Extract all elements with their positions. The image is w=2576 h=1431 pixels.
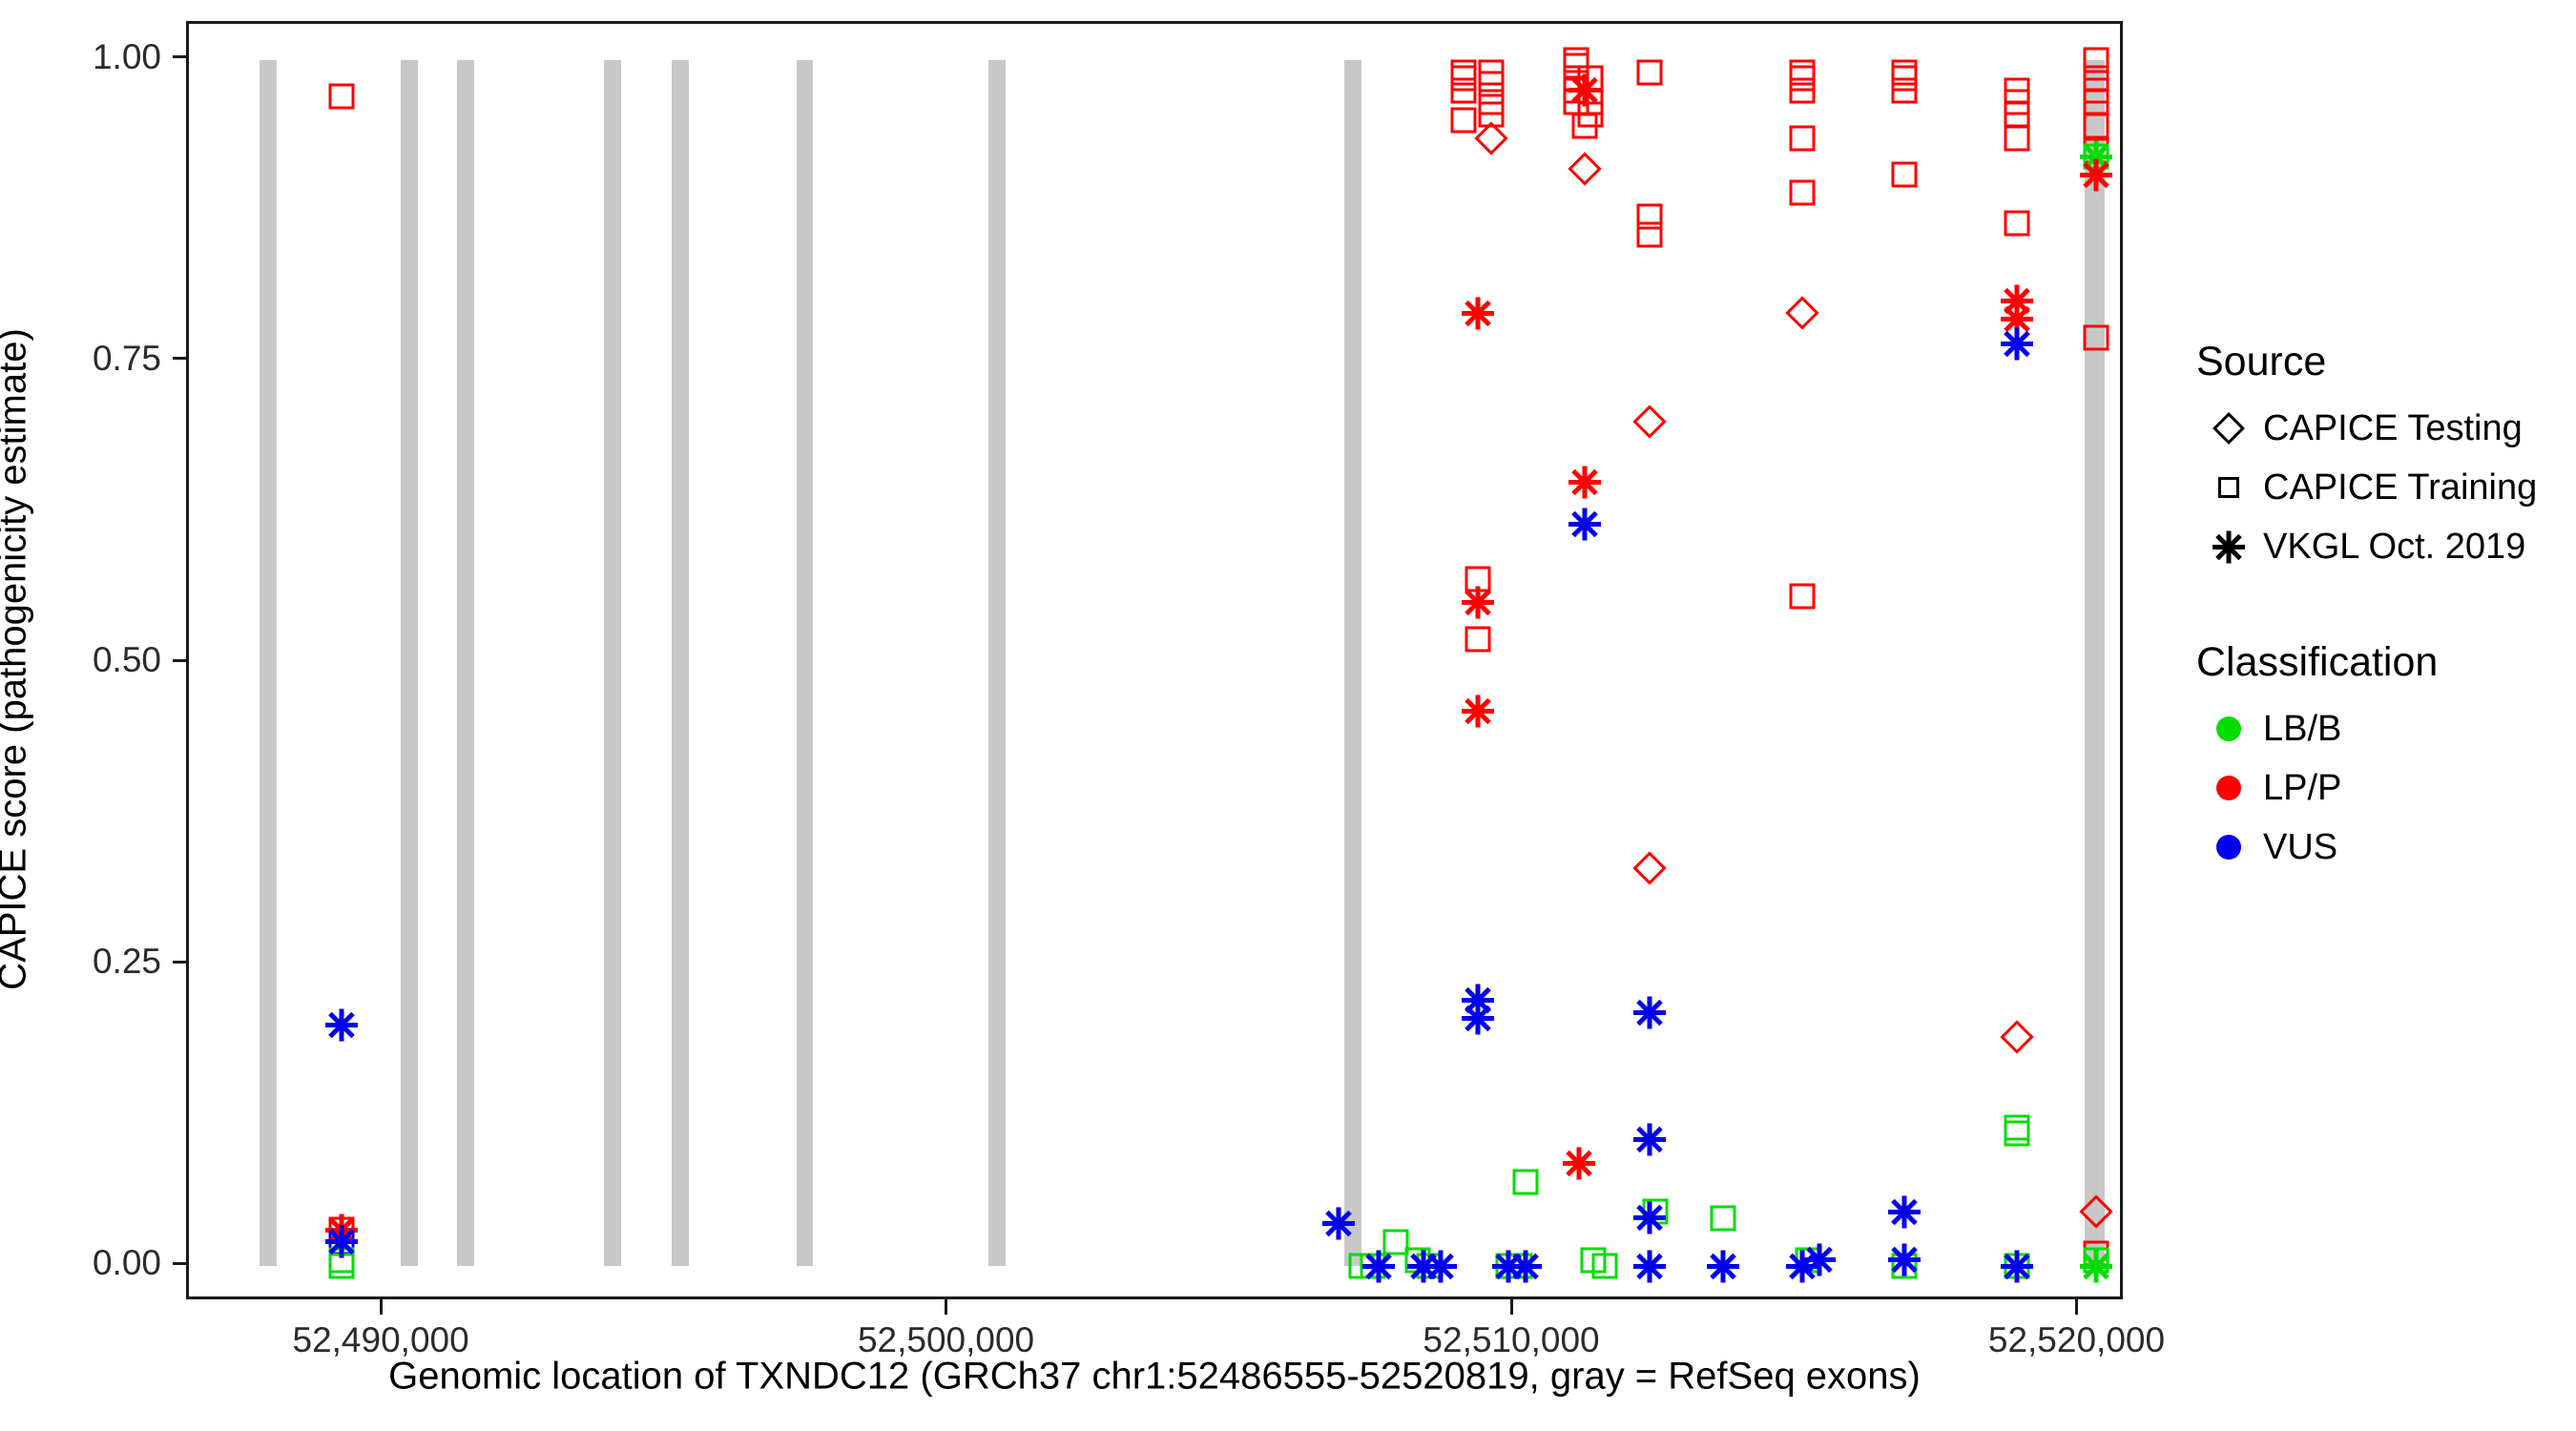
x-axis-tick: [2075, 1299, 2078, 1315]
square-outline-icon: [2218, 477, 2239, 498]
y-axis-tick: [173, 357, 186, 360]
asterisk-icon: [2194, 517, 2263, 576]
data-point: [2084, 114, 2109, 139]
legend-item-label: VKGL Oct. 2019: [2263, 527, 2525, 568]
blue-dot-icon: [2216, 835, 2241, 860]
data-point: [1790, 77, 1816, 103]
data-point: [2005, 126, 2030, 152]
legend-item[interactable]: LB/B: [2194, 699, 2557, 758]
green-dot-icon: [2216, 716, 2241, 741]
data-point: [1790, 584, 1816, 610]
data-point: [1891, 162, 1917, 188]
exon-bar: [2085, 60, 2105, 1266]
y-axis-tick-label: 1.00: [93, 37, 161, 77]
red-dot-icon: [2216, 776, 2241, 800]
legend-group-spacer: [2194, 576, 2557, 639]
x-axis-tick: [380, 1299, 383, 1315]
legend-title-source: Source: [2196, 339, 2557, 385]
x-axis-tick: [945, 1299, 947, 1315]
plot-panel: [186, 21, 2123, 1299]
exon-bar: [604, 60, 621, 1266]
legend-item-label: CAPICE Testing: [2263, 408, 2523, 449]
legend-title-classification: Classification: [2196, 639, 2557, 686]
exon-bar: [401, 60, 418, 1266]
x-axis-title: Genomic location of TXNDC12 (GRCh37 chr1…: [388, 1356, 1921, 1399]
capice-scatter-figure: CAPICE score (pathogenicity estimate) 0.…: [0, 0, 2576, 1431]
y-axis-tick-label: 0.25: [93, 942, 161, 982]
exon-bar: [797, 60, 814, 1266]
y-axis-tick: [173, 55, 186, 58]
data-point: [1572, 114, 1598, 139]
y-axis-tick: [173, 659, 186, 662]
legend-item-label: LP/P: [2263, 768, 2341, 809]
data-point: [2001, 1020, 2034, 1053]
diamond-outline-icon: [2212, 412, 2245, 445]
y-axis-tick: [173, 1262, 186, 1265]
data-point: [1891, 77, 1917, 103]
exon-bar: [260, 60, 277, 1266]
exon-bar: [672, 60, 689, 1266]
data-point: [2005, 101, 2030, 127]
data-point: [1637, 222, 1663, 248]
data-point: [1633, 851, 1667, 884]
y-axis-tick-label: 0.75: [93, 339, 161, 379]
legend-item[interactable]: CAPICE Testing: [2194, 399, 2557, 458]
x-axis-tick: [1510, 1299, 1513, 1315]
data-point: [328, 83, 354, 109]
data-point: [1450, 108, 1476, 134]
data-point: [1568, 152, 1601, 185]
data-point: [1711, 1205, 1736, 1231]
data-point: [1591, 1254, 1617, 1279]
legend-item[interactable]: VKGL Oct. 2019: [2194, 517, 2557, 576]
data-point: [2005, 210, 2030, 236]
data-point: [2084, 324, 2109, 350]
data-point: [1790, 126, 1816, 152]
legend-item[interactable]: VUS: [2194, 818, 2557, 877]
red-dot-icon: [2194, 758, 2263, 818]
legend: SourceCAPICE TestingCAPICE TrainingVKGL …: [2194, 339, 2557, 877]
legend-item-label: VUS: [2263, 827, 2337, 868]
legend-item-label: CAPICE Training: [2263, 467, 2537, 508]
y-axis-tick: [173, 961, 186, 964]
data-point: [1637, 59, 1663, 85]
data-point: [1450, 77, 1476, 103]
exon-bar: [988, 60, 1006, 1266]
exon-bar: [1344, 60, 1361, 1266]
data-point: [1465, 626, 1490, 652]
data-point: [1785, 297, 1818, 330]
legend-item-label: LB/B: [2263, 709, 2341, 750]
square-outline-icon: [2194, 458, 2263, 517]
data-point: [2005, 1121, 2030, 1147]
y-axis-tick-label: 0.50: [93, 640, 161, 680]
blue-dot-icon: [2194, 818, 2263, 877]
legend-item[interactable]: LP/P: [2194, 758, 2557, 818]
green-dot-icon: [2194, 699, 2263, 758]
x-axis-tick-label: 52,520,000: [1988, 1320, 2165, 1360]
diamond-outline-icon: [2194, 399, 2263, 458]
data-point: [1790, 179, 1816, 205]
legend-item[interactable]: CAPICE Training: [2194, 458, 2557, 517]
data-point: [1512, 1169, 1538, 1194]
data-point: [2084, 90, 2109, 115]
data-point: [1633, 404, 1667, 438]
y-axis: 0.000.250.500.751.00: [0, 21, 186, 1299]
y-axis-tick-label: 0.00: [93, 1243, 161, 1283]
exon-bar: [457, 60, 474, 1266]
